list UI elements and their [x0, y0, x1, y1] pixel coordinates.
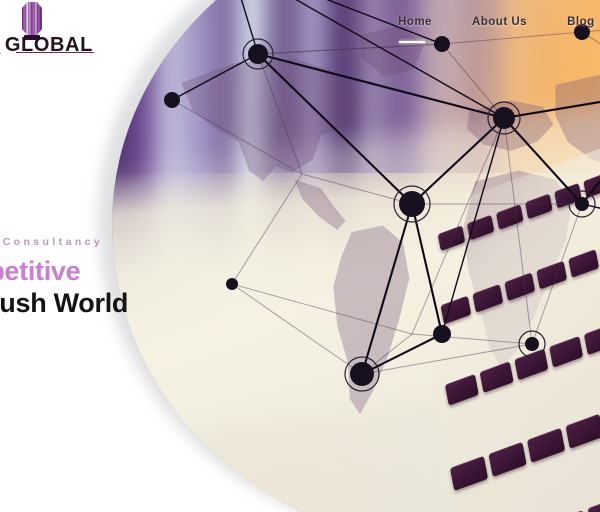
nav-item-home[interactable]: Home [398, 16, 432, 28]
hero-headline-line-2: In This Rush World [0, 288, 188, 318]
hero-eyebrow: Innovative IT Consultancy [0, 236, 188, 248]
nav-item-blog[interactable]: Blog [567, 16, 595, 28]
hero-copy: Innovative IT Consultancy Be Competitive… [0, 236, 188, 318]
nav-item-about-us[interactable]: About Us [472, 16, 527, 28]
site-logo[interactable]: HOWARD GLOBAL LTD. [0, 2, 100, 58]
tower-logo-icon [22, 2, 42, 35]
logo-wordmark: HOWARD GLOBAL [0, 34, 100, 57]
logo-sub-text: LTD. [0, 50, 2, 56]
hero-headline-line-1: Be Competitive [0, 257, 188, 286]
main-navigation: Home About Us Blog Contact [398, 16, 600, 28]
landing-page: HOWARD GLOBAL LTD. Home About Us Blog Co… [0, 0, 600, 512]
